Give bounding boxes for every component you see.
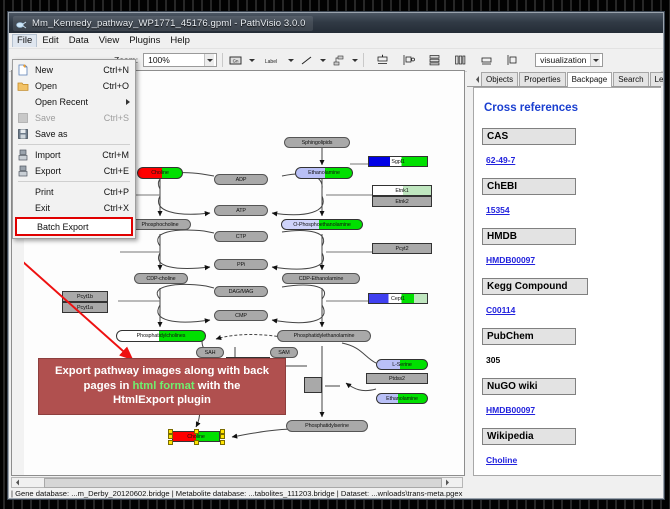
menu-item-exit-label: Exit: [35, 203, 50, 213]
menu-item-export-shortcut: Ctrl+E: [104, 166, 129, 176]
menu-item-open-label: Open: [35, 81, 57, 91]
toolbar-separator: [222, 53, 223, 67]
callout-line-3: HtmlExport plugin: [113, 394, 211, 408]
node-o-phosphoethanolamine[interactable]: O-Phosphoethanolamine: [281, 219, 363, 230]
node-sam[interactable]: SAM: [270, 347, 298, 358]
node-ctp[interactable]: CTP: [214, 231, 268, 242]
tab-legend[interactable]: Legend: [650, 72, 664, 86]
datanode-dropdown-icon[interactable]: [249, 59, 255, 62]
tab-properties[interactable]: Properties: [519, 72, 565, 86]
node-phosphatidylcholines[interactable]: Phosphatidylcholines: [116, 330, 206, 342]
scroll-left-icon[interactable]: [12, 478, 22, 487]
menu-item-open-recent[interactable]: Open Recent: [13, 94, 135, 110]
xref-link-kegg[interactable]: C00114: [486, 305, 515, 315]
svg-text:Label: Label: [265, 59, 277, 65]
gene-pcyt1b[interactable]: Pcyt1b: [62, 291, 108, 302]
xref-link-cas[interactable]: 62-49-7: [486, 155, 515, 165]
xref-header-cas: CAS: [482, 128, 576, 145]
gene-pcyt2[interactable]: Pcyt2: [372, 243, 432, 254]
resize-handle-n[interactable]: [194, 429, 199, 434]
save-as-icon: [17, 128, 29, 140]
xref-header-kegg: Kegg Compound: [482, 278, 588, 295]
menu-item-import-label: Import: [35, 150, 61, 160]
gene-etnk1[interactable]: Etnk1: [372, 185, 432, 196]
node-l-serine[interactable]: L-Serine: [376, 359, 428, 370]
label-icon[interactable]: Label: [260, 53, 282, 68]
menu-item-open[interactable]: Open Ctrl+O: [13, 78, 135, 94]
menu-item-export[interactable]: Export Ctrl+E: [13, 163, 135, 179]
backpage-content: Cross references CAS 62-49-7 ChEBI 15354…: [473, 87, 661, 476]
menu-item-exit-shortcut: Ctrl+X: [104, 203, 129, 213]
interaction-icon[interactable]: [331, 53, 346, 68]
tab-backpage[interactable]: Backpage: [567, 72, 613, 87]
gene-sgpl1[interactable]: Sgpl1: [368, 156, 428, 167]
menu-item-save-shortcut: Ctrl+S: [104, 113, 129, 123]
zoom-value: 100%: [148, 55, 170, 65]
node-sphingolipids[interactable]: Sphingolipids: [284, 137, 350, 148]
xref-header-hmdb: HMDB: [482, 228, 576, 245]
node-dag-mag[interactable]: DAG/MAG: [214, 286, 268, 297]
scroll-right-icon[interactable]: [442, 478, 452, 487]
callout-highlight: html format: [133, 380, 195, 392]
toolbar-separator-2: [363, 53, 364, 67]
window-title-bar: Mm_Kennedy_pathway_WP1771_45176.gpml - P…: [9, 13, 663, 33]
common-height-icon[interactable]: [505, 53, 520, 68]
menu-edit[interactable]: Edit: [37, 34, 63, 48]
menu-item-open-recent-label: Open Recent: [35, 97, 88, 107]
node-ppi[interactable]: PPi: [214, 259, 268, 270]
node-ethanolamine-bottom[interactable]: Ethanolamine: [376, 393, 428, 404]
menu-item-export-label: Export: [35, 166, 61, 176]
pathvisio-icon: [16, 18, 27, 29]
tab-objects[interactable]: Objects: [481, 72, 518, 86]
menu-item-new-label: New: [35, 65, 53, 75]
menu-item-import[interactable]: Import Ctrl+M: [13, 147, 135, 163]
resize-handle-e[interactable]: [220, 434, 225, 439]
menu-file[interactable]: File: [12, 34, 37, 47]
annotation-callout: Export pathway images along with back pa…: [38, 358, 286, 415]
xref-value-pubchem: 305: [486, 355, 500, 365]
xref-header-nugo: NuGO wiki: [482, 378, 576, 395]
menu-view[interactable]: View: [94, 34, 124, 48]
xref-link-chebi[interactable]: 15354: [486, 205, 510, 215]
xref-header-chebi: ChEBI: [482, 178, 576, 195]
gene-ptdss2[interactable]: Ptdss2: [366, 373, 428, 384]
menu-help[interactable]: Help: [165, 34, 195, 48]
gene-ptdss1[interactable]: [304, 377, 322, 393]
node-phosphatidylserine[interactable]: Phosphatidylserine: [286, 420, 368, 432]
menu-item-save-label: Save: [35, 113, 56, 123]
stack-horizontal-icon[interactable]: [453, 53, 468, 68]
menu-item-batch-export-label: Batch Export: [37, 222, 89, 232]
menu-data[interactable]: Data: [64, 34, 94, 48]
gene-pcyt1a[interactable]: Pcyt1a: [62, 302, 108, 313]
tab-scroll-left-icon[interactable]: [475, 73, 480, 86]
resize-handle-s[interactable]: [194, 440, 199, 445]
callout-line-2c: with the: [195, 380, 241, 392]
status-bar: | Gene database: ...m_Derby_20120602.bri…: [11, 488, 661, 498]
xref-link-hmdb[interactable]: HMDB00097: [486, 255, 535, 265]
menu-item-batch-export[interactable]: Batch Export: [15, 217, 133, 236]
align-top-icon[interactable]: [375, 53, 390, 68]
resize-handle-sw[interactable]: [168, 440, 173, 445]
line-dropdown-icon[interactable]: [320, 59, 326, 62]
visualization-value: visualization: [540, 55, 586, 65]
open-folder-icon: [17, 80, 29, 92]
xref-link-nugo[interactable]: HMDB00097: [486, 405, 535, 415]
xref-header-wikipedia: Wikipedia: [482, 428, 576, 445]
export-icon: [17, 165, 29, 177]
xref-header-pubchem: PubChem: [482, 328, 576, 345]
submenu-arrow-icon: [126, 99, 130, 105]
window-title: Mm_Kennedy_pathway_WP1771_45176.gpml - P…: [32, 18, 306, 29]
chevron-down-icon: [204, 54, 214, 66]
node-adp[interactable]: ADP: [214, 174, 268, 185]
callout-line-2: pages in html format with the: [84, 380, 241, 394]
menu-item-import-shortcut: Ctrl+M: [102, 150, 129, 160]
node-phosphatidylethanolamine[interactable]: Phosphatidylethanolamine: [277, 330, 371, 342]
node-cdp-ethanolamine[interactable]: CDP-Ethanolamine: [282, 273, 360, 284]
menu-item-save-as[interactable]: Save as: [13, 126, 135, 142]
menu-bar: File Edit Data View Plugins Help: [9, 33, 663, 49]
menu-item-print-label: Print: [35, 187, 54, 197]
interaction-dropdown-icon[interactable]: [352, 59, 358, 62]
new-file-icon: [17, 64, 29, 76]
canvas-horizontal-scrollbar[interactable]: [11, 477, 463, 488]
node-ethanolamine-top[interactable]: Ethanolamine: [295, 167, 353, 179]
save-disk-icon: [17, 112, 29, 124]
menu-separator-1: [18, 144, 130, 145]
resize-handle-se[interactable]: [220, 440, 225, 445]
tab-search[interactable]: Search: [613, 72, 648, 86]
menu-item-print-shortcut: Ctrl+P: [104, 187, 129, 197]
cross-references-heading: Cross references: [484, 102, 653, 114]
stack-vertical-icon[interactable]: [427, 53, 442, 68]
menu-item-exit[interactable]: Exit Ctrl+X: [13, 200, 135, 216]
gene-etnk2[interactable]: Etnk2: [372, 196, 432, 207]
menu-item-new[interactable]: New Ctrl+N: [13, 62, 135, 78]
visualization-combobox[interactable]: visualization: [535, 53, 603, 67]
label-dropdown-icon[interactable]: [288, 59, 294, 62]
import-icon: [17, 149, 29, 161]
file-dropdown-menu: New Ctrl+N Open Ctrl+O Open Recent Save: [12, 59, 136, 239]
align-left-icon[interactable]: [401, 53, 416, 68]
datanode-icon[interactable]: Gn: [228, 53, 243, 68]
xref-link-wikipedia[interactable]: Choline: [486, 455, 517, 465]
side-panel: Objects Properties Backpage Search Legen…: [467, 70, 661, 476]
menu-plugins[interactable]: Plugins: [124, 34, 165, 48]
node-cmp[interactable]: CMP: [214, 310, 268, 321]
menu-item-save: Save Ctrl+S: [13, 110, 135, 126]
chevron-down-icon-2: [590, 54, 600, 66]
menu-item-open-shortcut: Ctrl+O: [103, 81, 129, 91]
node-phosphocholine[interactable]: Phosphocholine: [129, 219, 191, 230]
menu-item-new-shortcut: Ctrl+N: [103, 65, 129, 75]
common-width-icon[interactable]: [479, 53, 494, 68]
node-cdp-choline[interactable]: CDP-choline: [134, 273, 188, 284]
resize-handle-w[interactable]: [168, 434, 173, 439]
node-choline-selected-wrapper[interactable]: Choline: [168, 429, 224, 443]
node-sah[interactable]: SAH: [196, 347, 224, 358]
pathvisio-window: Mm_Kennedy_pathway_WP1771_45176.gpml - P…: [8, 12, 664, 499]
menu-separator-2: [18, 181, 130, 182]
line-icon[interactable]: [299, 53, 314, 68]
node-atp[interactable]: ATP: [214, 205, 268, 216]
callout-line-2a: pages in: [84, 380, 133, 392]
menu-item-save-as-label: Save as: [35, 129, 68, 139]
menu-item-print[interactable]: Print Ctrl+P: [13, 184, 135, 200]
zoom-combobox[interactable]: 100%: [143, 53, 217, 67]
callout-line-1: Export pathway images along with back: [55, 365, 269, 379]
screenshot-frame: Mm_Kennedy_pathway_WP1771_45176.gpml - P…: [0, 0, 670, 509]
svg-text:Gn: Gn: [233, 58, 239, 63]
node-choline[interactable]: Choline: [137, 167, 183, 179]
gene-cept1[interactable]: Cept1: [368, 293, 428, 304]
side-panel-tabs: Objects Properties Backpage Search Legen…: [467, 70, 661, 87]
scrollbar-thumb[interactable]: [44, 478, 442, 488]
